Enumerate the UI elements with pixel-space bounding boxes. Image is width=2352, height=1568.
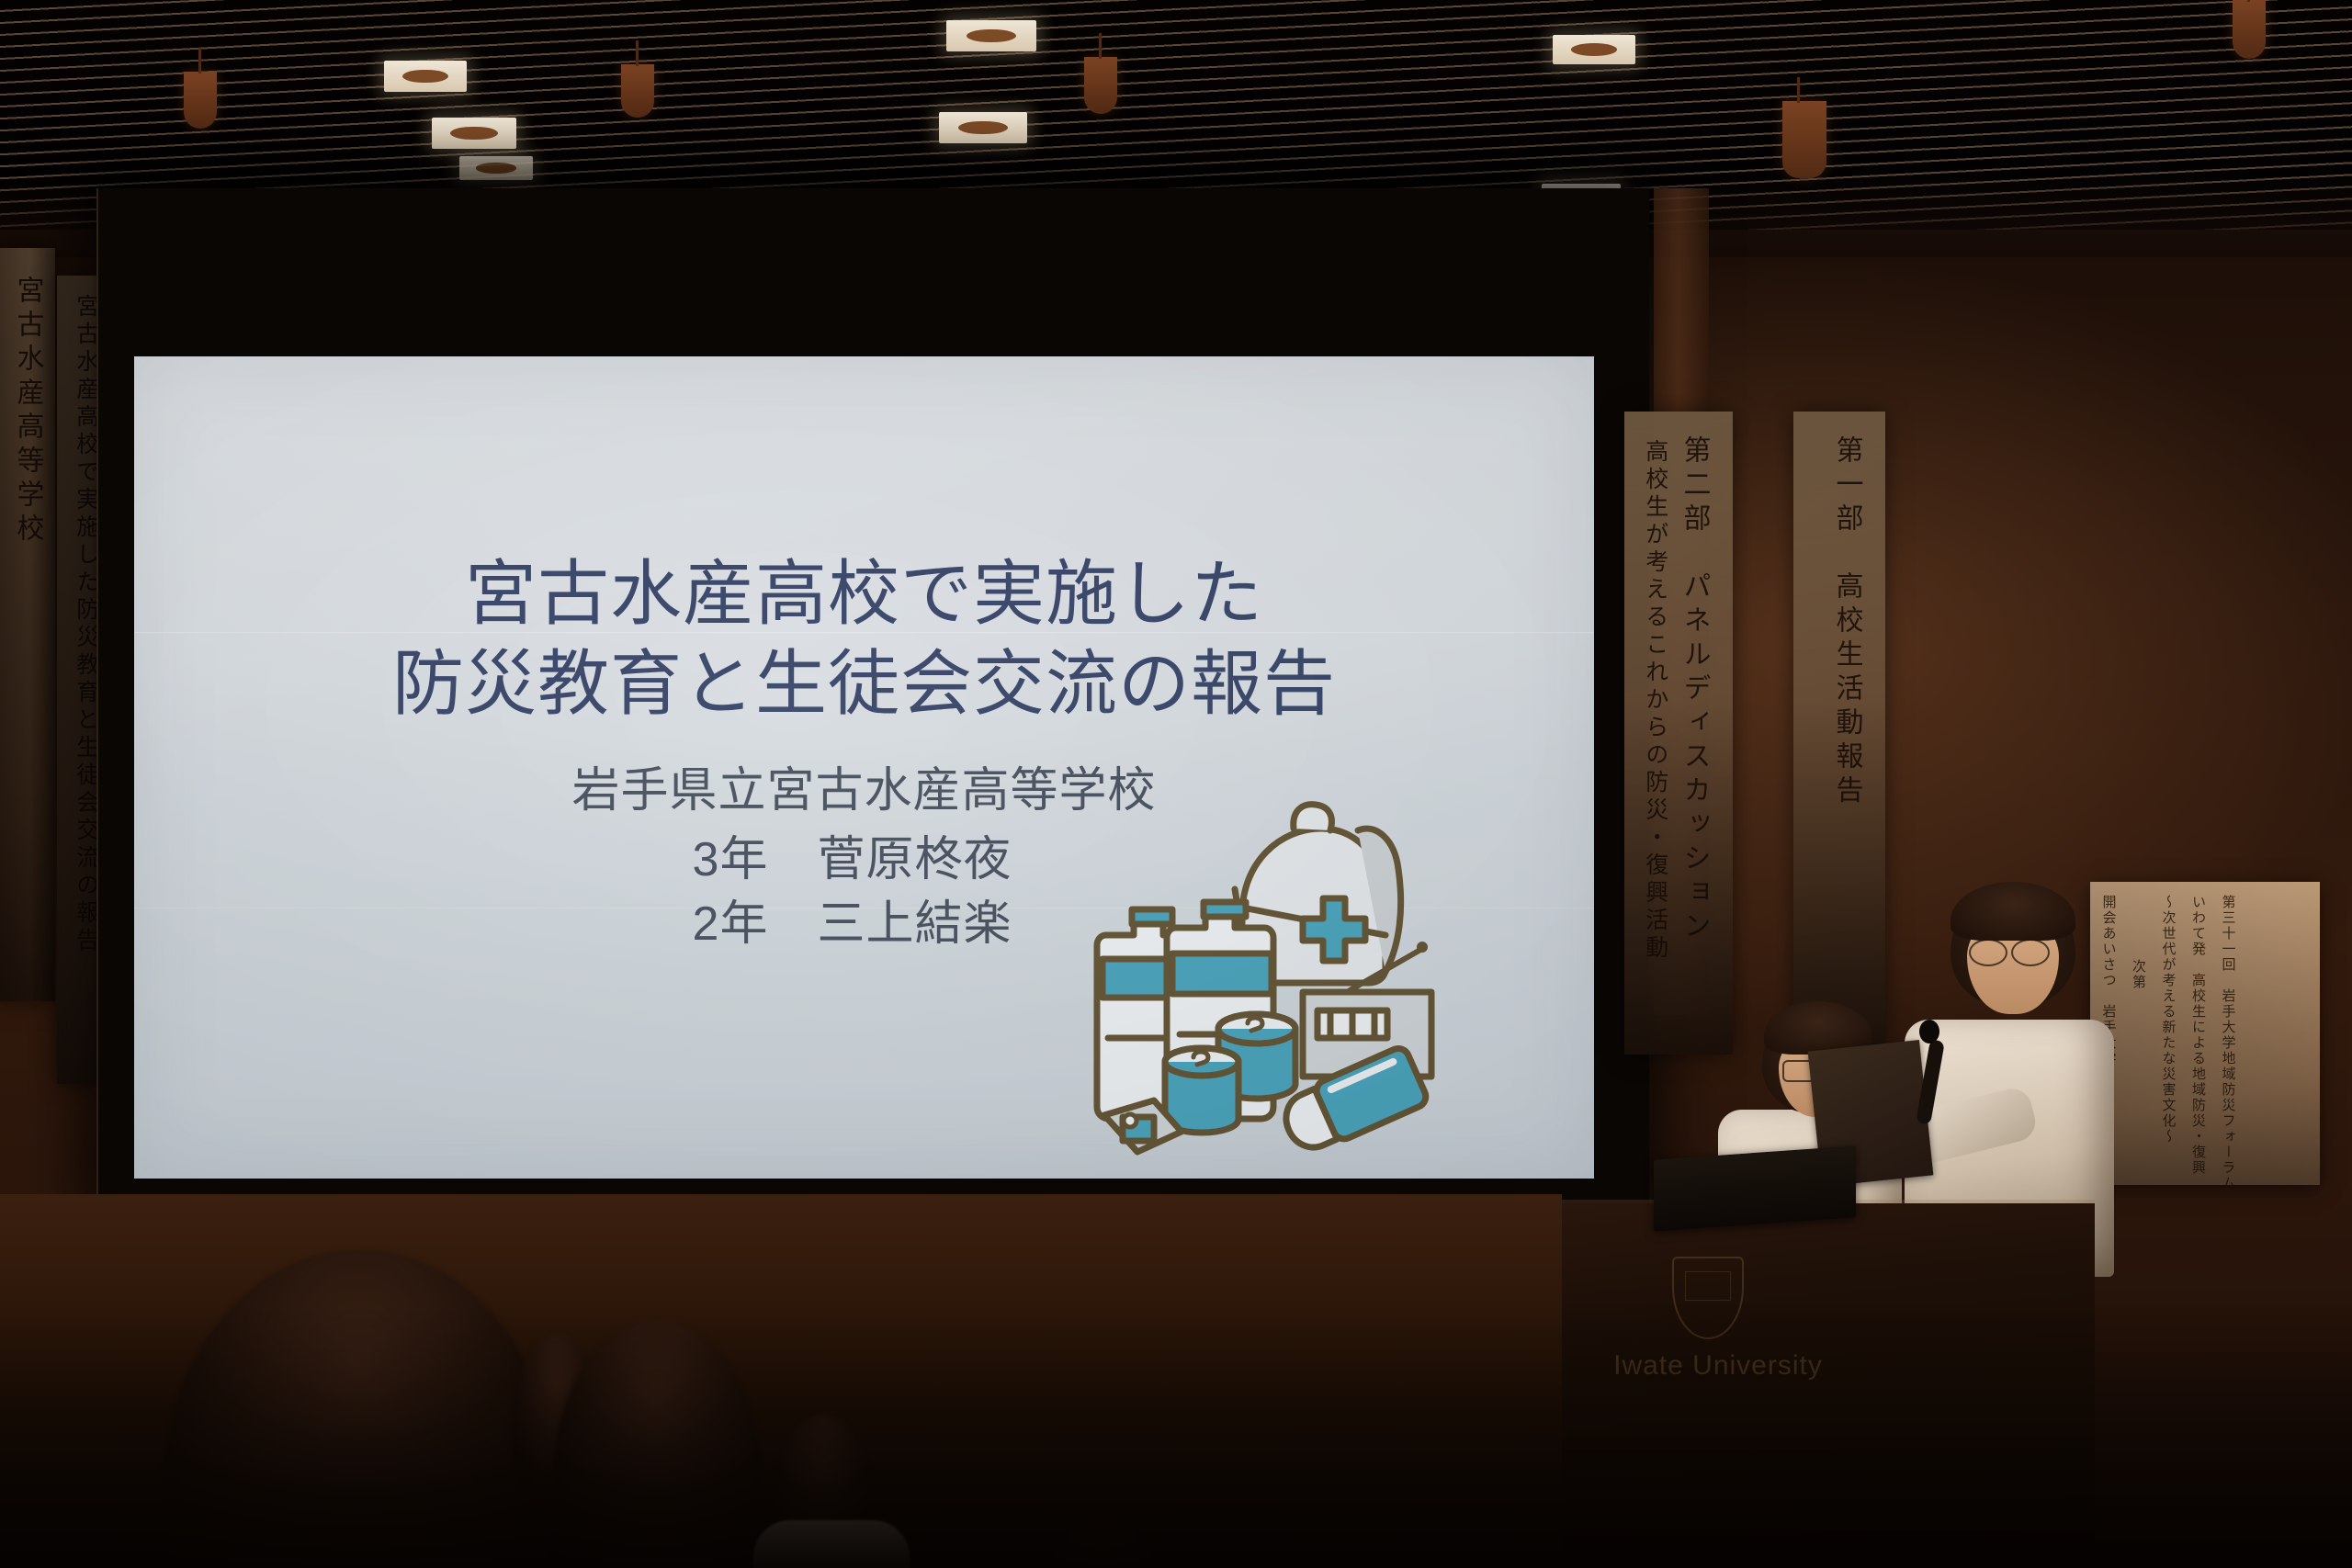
speaking-presenter-glasses — [2011, 939, 2050, 966]
banner-left: 宮古水産高等学校 — [0, 248, 55, 1001]
slide-content: 宮古水産高校で実施した 防災教育と生徒会交流の報告 岩手県立宮古水産高等学校 3… — [134, 356, 1594, 1179]
ceiling-light-fixture — [432, 118, 516, 149]
ceiling-light-fixture — [946, 20, 1036, 51]
speaking-presenter-glasses — [1969, 939, 2007, 966]
emergency-kit-illustration — [1062, 797, 1448, 1165]
banner-part-two-title: 第二部 パネルディスカッション — [1672, 435, 1715, 945]
audience-shoulders — [753, 1520, 910, 1568]
podium: Iwate University — [1516, 1203, 2095, 1568]
pendant-lamp — [1782, 101, 1826, 178]
slide-title-line1: 宮古水産高校で実施した — [134, 551, 1594, 636]
ceiling-light-fixture — [384, 61, 467, 92]
pendant-lamp — [1084, 57, 1117, 114]
ceiling-light-fixture — [1553, 35, 1635, 64]
pendant-lamp — [2233, 0, 2266, 59]
pendant-lamp — [621, 64, 654, 118]
microphone-head — [1919, 1020, 1939, 1043]
banner-part-two: 第二部 パネルディスカッション 高校生が考えるこれからの防災・復興活動 — [1624, 412, 1733, 1055]
banner-part-two-sub: 高校生が考えるこれからの防災・復興活動 — [1637, 439, 1673, 963]
slide-title-line2: 防災教育と生徒会交流の報告 — [134, 641, 1594, 726]
banner-part-one: 第一部 高校生活動報告 — [1793, 412, 1885, 1055]
iwate-university-crest-icon — [1672, 1257, 1744, 1339]
banner-left-text: 宮古水産高等学校 — [6, 276, 49, 547]
auditorium-photo: 宮古水産高等学校 宮古水産高校で実施した防災教育と生徒会交流の報告 宮古水産高校… — [0, 0, 2352, 1568]
projection-screen: 宮古水産高校で実施した 防災教育と生徒会交流の報告 岩手県立宮古水産高等学校 3… — [134, 356, 1594, 1179]
ceiling-light-fixture — [939, 112, 1027, 143]
presenter-laptop — [1654, 1145, 1856, 1231]
speaking-presenter-fringe — [1951, 882, 2075, 941]
banner-part-one-text: 第一部 高校生活動報告 — [1825, 435, 1868, 809]
podium-organization-label: Iwate University — [1571, 1350, 1865, 1382]
pendant-lamp — [184, 72, 217, 129]
